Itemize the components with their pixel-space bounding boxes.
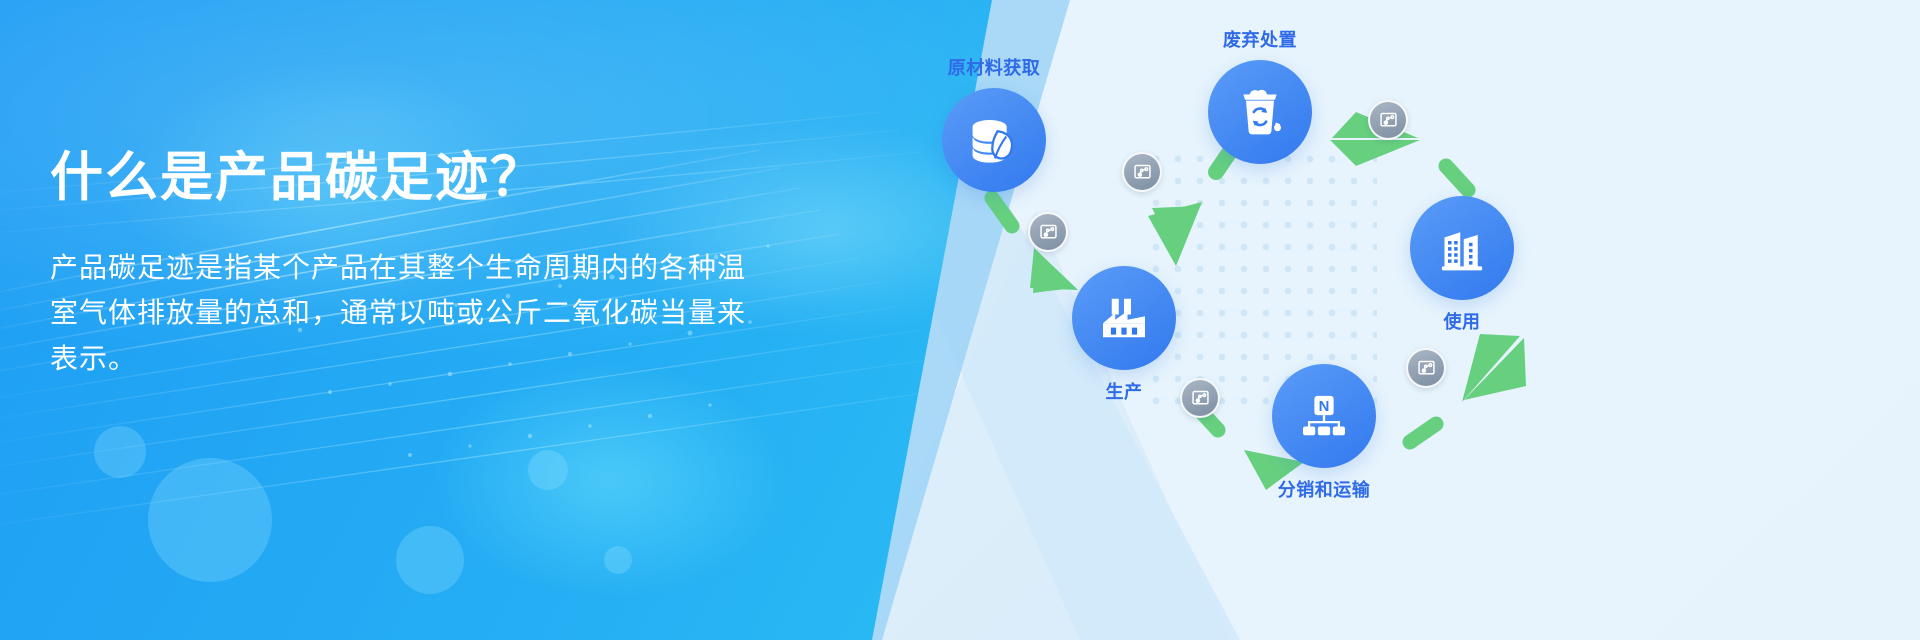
- node-label: 废弃处置: [1223, 26, 1297, 52]
- lifecycle-node-waste[interactable]: 废弃处置: [1208, 60, 1312, 164]
- page-description: 产品碳足迹是指某个产品在其整个生命周期内的各种温室气体排放量的总和，通常以吨或公…: [50, 245, 750, 381]
- lifecycle-node-raw-material[interactable]: 原材料获取: [942, 88, 1046, 192]
- database-leaf-icon: [966, 112, 1022, 168]
- factory-icon: [1096, 290, 1152, 346]
- image-node-icon: [1038, 222, 1059, 243]
- hero-text-block: 什么是产品碳足迹？ 产品碳足迹是指某个产品在其整个生命周期内的各种温室气体排放量…: [50, 148, 770, 381]
- node-label: 使用: [1444, 308, 1481, 334]
- page-title: 什么是产品碳足迹？: [50, 148, 770, 209]
- carbon-footprint-banner: 什么是产品碳足迹？ 产品碳足迹是指某个产品在其整个生命周期内的各种温室气体排放量…: [0, 0, 1920, 640]
- image-node-icon: [1132, 162, 1153, 183]
- lifecycle-node-use[interactable]: 使用: [1410, 196, 1514, 300]
- building-icon: [1434, 220, 1490, 276]
- lifecycle-node-distribution[interactable]: N 分销和运输: [1272, 364, 1376, 468]
- node-circle[interactable]: [1208, 60, 1312, 164]
- node-label: 分销和运输: [1278, 476, 1371, 502]
- connector-badge-raw-production: [1028, 212, 1068, 252]
- image-node-icon: [1378, 110, 1399, 131]
- node-circle[interactable]: [942, 88, 1046, 192]
- svg-text:N: N: [1319, 399, 1330, 415]
- node-label: 生产: [1106, 378, 1143, 404]
- node-circle[interactable]: [1072, 266, 1176, 370]
- connector-badge-waste-raw: [1122, 152, 1162, 192]
- node-circle[interactable]: N: [1272, 364, 1376, 468]
- recycle-bin-icon: [1232, 84, 1288, 140]
- image-node-icon: [1190, 388, 1211, 409]
- lifecycle-node-production[interactable]: 生产: [1072, 266, 1176, 370]
- sitemap-n-icon: N: [1296, 388, 1352, 444]
- lifecycle-diagram: 原材料获取: [900, 0, 1920, 640]
- connector-badge-production-distribution: [1180, 378, 1220, 418]
- image-node-icon: [1416, 358, 1437, 379]
- connector-badge-distribution-use: [1406, 348, 1446, 388]
- connector-badge-use-waste: [1368, 100, 1408, 140]
- node-circle[interactable]: [1410, 196, 1514, 300]
- node-label: 原材料获取: [948, 54, 1041, 80]
